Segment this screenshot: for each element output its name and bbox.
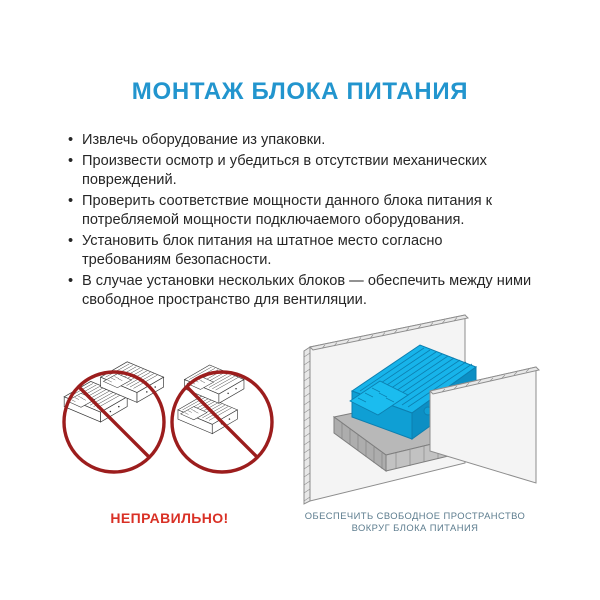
list-item-text: Извлечь оборудование из упаковки. — [82, 132, 325, 148]
bullet-icon: • — [68, 272, 73, 292]
illustrations-row: НЕПРАВИЛЬНО! — [0, 305, 600, 555]
bullet-icon: • — [68, 131, 73, 151]
list-item-text: В случае установки нескольких блоков — о… — [82, 273, 531, 309]
bullet-icon: • — [68, 232, 73, 252]
correct-mounting-svg — [300, 305, 545, 505]
correct-caption-line1: ОБЕСПЕЧИТЬ СВОБОДНОЕ ПРОСТРАНСТВО — [282, 510, 548, 522]
incorrect-caption: НЕПРАВИЛЬНО! — [62, 510, 277, 526]
psu-pair-stacked — [178, 365, 244, 434]
instruction-page: МОНТАЖ БЛОКА ПИТАНИЯ • Извлечь оборудова… — [0, 0, 600, 600]
list-item-text: Установить блок питания на штатное место… — [82, 233, 443, 269]
bullet-icon: • — [68, 192, 73, 212]
list-item: • Установить блок питания на штатное мес… — [67, 232, 535, 271]
incorrect-mounting-svg — [62, 355, 277, 490]
bullet-icon: • — [68, 152, 73, 172]
list-item-text: Произвести осмотр и убедиться в отсутств… — [82, 153, 487, 189]
instruction-list: • Извлечь оборудование из упаковки. • Пр… — [67, 131, 535, 312]
list-item: • Произвести осмотр и убедиться в отсутс… — [67, 152, 535, 191]
correct-caption-line2: ВОКРУГ БЛОКА ПИТАНИЯ — [282, 522, 548, 534]
correct-caption: ОБЕСПЕЧИТЬ СВОБОДНОЕ ПРОСТРАНСТВО ВОКРУГ… — [282, 510, 548, 534]
list-item-text: Проверить соответствие мощности данного … — [82, 193, 492, 229]
incorrect-mounting-figure — [62, 355, 277, 490]
list-item: • Проверить соответствие мощности данног… — [67, 192, 535, 231]
page-title: МОНТАЖ БЛОКА ПИТАНИЯ — [0, 78, 600, 106]
correct-mounting-figure — [300, 305, 545, 505]
list-item: • Извлечь оборудование из упаковки. — [67, 131, 535, 151]
